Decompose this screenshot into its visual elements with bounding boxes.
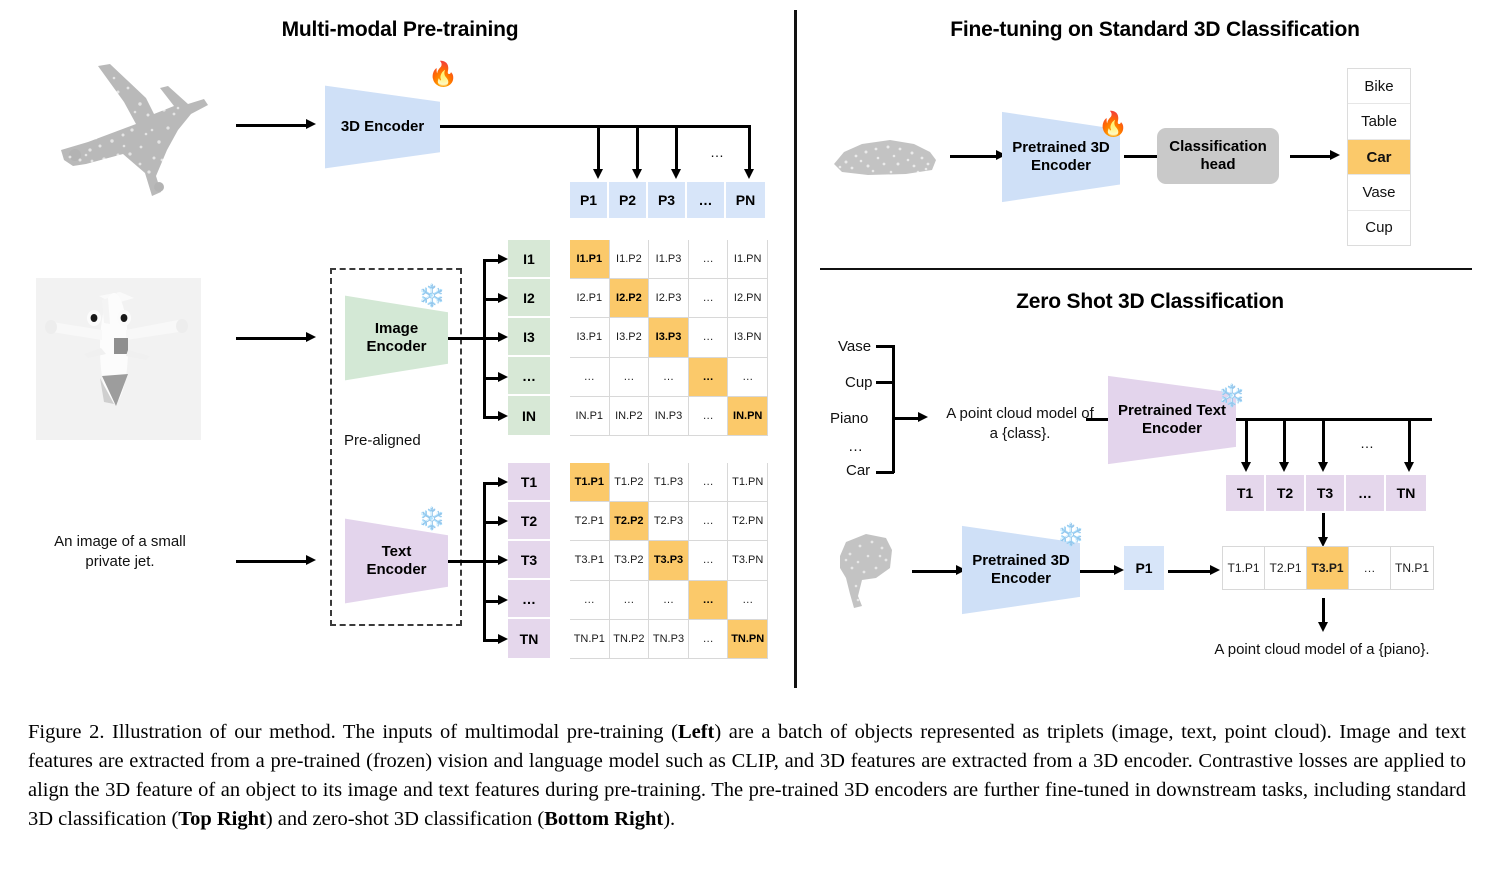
- p-token[interactable]: P2: [609, 182, 648, 218]
- p-token[interactable]: P1: [570, 182, 609, 218]
- arrowhead: [1318, 462, 1328, 472]
- p-branch-ellipsis: …: [700, 143, 734, 161]
- arrow-image-to-encoder: [236, 337, 308, 340]
- t-token[interactable]: TN: [1386, 475, 1426, 511]
- classification-head[interactable]: Classification head: [1157, 128, 1279, 184]
- private-jet-render: [36, 278, 201, 440]
- image-matrix-cell[interactable]: …: [689, 279, 729, 318]
- class-item[interactable]: Cup: [1348, 211, 1410, 245]
- image-matrix-cell[interactable]: IN.P3: [649, 397, 689, 436]
- caption-part-3: ) and zero-shot 3D classification (: [266, 808, 544, 830]
- text-matrix-cell[interactable]: T2.PN: [728, 502, 768, 541]
- bus-text-encoder: [448, 560, 485, 563]
- car-point-cloud: [828, 128, 940, 190]
- arrowhead: [632, 169, 642, 179]
- t-token[interactable]: T3: [1306, 475, 1346, 511]
- panel-title-topright: Fine-tuning on Standard 3D Classificatio…: [855, 18, 1455, 42]
- image-matrix-cell[interactable]: I1.P2: [610, 240, 650, 279]
- p1-token-zeroshot[interactable]: P1: [1124, 546, 1166, 590]
- candidate-class[interactable]: Vase: [838, 338, 871, 355]
- vertical-divider: [794, 10, 797, 688]
- text-token[interactable]: T1: [508, 463, 550, 502]
- text-token-column: T1 T2 T3 … TN: [508, 463, 550, 659]
- text-matrix-cell-positive[interactable]: T1.P1: [570, 463, 610, 502]
- class-bracket-tick: [876, 471, 894, 474]
- class-bracket-tick: [876, 381, 894, 384]
- arrowhead: [593, 169, 603, 179]
- class-item[interactable]: Table: [1348, 104, 1410, 139]
- arrowhead: [1318, 622, 1328, 632]
- similarity-cell[interactable]: …: [1349, 547, 1391, 589]
- arrowhead: [498, 254, 508, 264]
- arrowhead: [306, 555, 316, 565]
- arrowhead: [1114, 565, 1124, 575]
- class-bracket-tick: [876, 345, 894, 348]
- panel-title-left: Multi-modal Pre-training: [180, 18, 620, 42]
- candidate-class[interactable]: Cup: [845, 374, 873, 391]
- arrowhead: [498, 332, 508, 342]
- text-token[interactable]: T3: [508, 541, 550, 580]
- branch-p2: [636, 125, 639, 173]
- arrowhead: [498, 372, 508, 382]
- text-matrix-cell-positive[interactable]: TN.PN: [728, 620, 768, 659]
- image-matrix-cell-positive[interactable]: I3.P3: [649, 318, 689, 357]
- candidate-class-ellipsis: …: [848, 438, 863, 455]
- branch-t1: [1245, 418, 1248, 466]
- caption-bold-left: Left: [678, 721, 714, 743]
- snowflake-icon: ❄️: [1057, 524, 1084, 546]
- p-token[interactable]: P3: [648, 182, 687, 218]
- bus-image-encoder: [448, 337, 485, 340]
- text-similarity-matrix: T1.P1T1.P2T1.P3…T1.PNT2.P1T2.P2T2.P3…T2.…: [570, 463, 768, 659]
- text-matrix-cell[interactable]: …: [689, 620, 729, 659]
- text-token[interactable]: T2: [508, 502, 550, 541]
- image-matrix-cell-positive[interactable]: I2.P2: [610, 279, 650, 318]
- similarity-cell-best[interactable]: T3.P1: [1307, 547, 1349, 589]
- image-matrix-cell-positive[interactable]: …: [689, 358, 729, 397]
- arrowhead: [306, 119, 316, 129]
- branch-t3: [1322, 418, 1325, 466]
- encoder-3d-label: 3D Encoder: [341, 118, 424, 136]
- arrowhead: [498, 595, 508, 605]
- text-matrix-cell[interactable]: TN.P1: [570, 620, 610, 659]
- class-item-selected[interactable]: Car: [1348, 140, 1410, 175]
- t-token[interactable]: T1: [1226, 475, 1266, 511]
- text-matrix-cell[interactable]: T2.P3: [649, 502, 689, 541]
- caption-part-4: ).: [663, 808, 675, 830]
- text-matrix-cell[interactable]: TN.P2: [610, 620, 650, 659]
- text-matrix-cell[interactable]: …: [689, 541, 729, 580]
- image-matrix-cell[interactable]: I3.P2: [610, 318, 650, 357]
- fire-icon: 🔥: [428, 63, 458, 87]
- branch-p3: [675, 125, 678, 173]
- encoder-text-label: Text Encoder: [366, 543, 426, 578]
- image-matrix-cell[interactable]: I2.P1: [570, 279, 610, 318]
- p-token-row: P1 P2 P3 … PN: [570, 182, 765, 218]
- image-matrix-cell[interactable]: I3.P1: [570, 318, 610, 357]
- image-token[interactable]: I2: [508, 279, 550, 318]
- p-token[interactable]: …: [687, 182, 726, 218]
- arrowhead: [498, 634, 508, 644]
- image-matrix-cell[interactable]: …: [689, 397, 729, 436]
- image-matrix-cell[interactable]: …: [649, 358, 689, 397]
- image-matrix-cell-positive[interactable]: I1.P1: [570, 240, 610, 279]
- text-matrix-cell[interactable]: T3.P2: [610, 541, 650, 580]
- piano-point-cloud: [828, 524, 908, 614]
- arrow-encoder-to-p1: [1080, 570, 1116, 573]
- image-similarity-matrix: I1.P1I1.P2I1.P3…I1.PNI2.P1I2.P2I2.P3…I2.…: [570, 240, 768, 436]
- text-matrix-cell[interactable]: T1.P2: [610, 463, 650, 502]
- horizontal-divider: [820, 268, 1472, 270]
- figure-canvas: Multi-modal Pre-training 3D Encoder: [0, 0, 1490, 705]
- image-token[interactable]: IN: [508, 396, 550, 435]
- panel-title-bottomright: Zero Shot 3D Classification: [940, 290, 1360, 314]
- image-matrix-cell[interactable]: …: [689, 318, 729, 357]
- similarity-cell[interactable]: T1.P1: [1223, 547, 1265, 589]
- branch-pn: [748, 125, 751, 173]
- image-matrix-cell[interactable]: …: [610, 358, 650, 397]
- arrow-head-to-classes: [1290, 155, 1332, 158]
- arrowhead: [671, 169, 681, 179]
- similarity-cell[interactable]: TN.P1: [1391, 547, 1433, 589]
- text-matrix-cell[interactable]: T3.P1: [570, 541, 610, 580]
- text-input-caption: An image of a small private jet.: [22, 532, 218, 571]
- prompt-template: A point cloud model of a {class}.: [930, 404, 1110, 443]
- pretrained-text-encoder[interactable]: Pretrained Text Encoder: [1108, 372, 1236, 468]
- branch-tn: [1408, 418, 1411, 466]
- text-matrix-cell[interactable]: …: [689, 463, 729, 502]
- class-item[interactable]: Bike: [1348, 69, 1410, 104]
- pretrained-3d-encoder-label: Pretrained 3D Encoder: [1012, 139, 1110, 174]
- image-token[interactable]: …: [508, 357, 550, 396]
- arrowhead: [498, 516, 508, 526]
- p-token[interactable]: PN: [726, 182, 765, 218]
- bus-3dencoder: [440, 125, 750, 128]
- text-matrix-cell[interactable]: …: [610, 581, 650, 620]
- encoder-image-label: Image Encoder: [366, 320, 426, 355]
- caption-part-1: Figure 2. Illustration of our method. Th…: [28, 721, 678, 743]
- image-matrix-cell-positive[interactable]: IN.PN: [728, 397, 768, 436]
- arrowhead: [1279, 462, 1289, 472]
- t-token[interactable]: …: [1346, 475, 1386, 511]
- arrowhead: [498, 411, 508, 421]
- arrowhead: [918, 412, 928, 422]
- figure-caption: Figure 2. Illustration of our method. Th…: [28, 718, 1466, 834]
- arrowhead: [306, 332, 316, 342]
- branch-t2: [1283, 418, 1286, 466]
- image-matrix-cell[interactable]: …: [570, 358, 610, 397]
- arrowhead: [744, 169, 754, 179]
- image-matrix-cell[interactable]: …: [728, 358, 768, 397]
- t-token[interactable]: T2: [1266, 475, 1306, 511]
- image-token-column: I1 I2 I3 … IN: [508, 240, 550, 436]
- text-token[interactable]: …: [508, 580, 550, 619]
- text-matrix-cell[interactable]: T2.P1: [570, 502, 610, 541]
- text-matrix-cell[interactable]: T1.P3: [649, 463, 689, 502]
- arrowhead: [1210, 565, 1220, 575]
- airplane-point-cloud: [28, 42, 228, 217]
- image-matrix-cell[interactable]: I1.PN: [728, 240, 768, 279]
- encoder-3d[interactable]: 3D Encoder: [325, 82, 440, 172]
- image-matrix-cell[interactable]: I1.P3: [649, 240, 689, 279]
- arrowhead: [1404, 462, 1414, 472]
- candidate-class[interactable]: Car: [846, 462, 870, 479]
- candidate-class[interactable]: Piano: [830, 410, 868, 427]
- text-matrix-cell-positive[interactable]: T3.P3: [649, 541, 689, 580]
- bus-text-encoder-zeroshot: [1236, 418, 1432, 421]
- image-matrix-cell[interactable]: IN.P2: [610, 397, 650, 436]
- image-matrix-cell[interactable]: I3.PN: [728, 318, 768, 357]
- t-branch-ellipsis: …: [1352, 434, 1382, 452]
- text-matrix-cell[interactable]: TN.P3: [649, 620, 689, 659]
- text-token[interactable]: TN: [508, 619, 550, 658]
- caption-bold-topright: Top Right: [178, 808, 266, 830]
- text-matrix-cell-positive[interactable]: …: [689, 581, 729, 620]
- zeroshot-result-text: A point cloud model of a {piano}.: [1182, 640, 1462, 660]
- snowflake-icon: ❄️: [418, 285, 445, 307]
- snowflake-icon: ❄️: [418, 508, 445, 530]
- image-matrix-cell[interactable]: I2.PN: [728, 279, 768, 318]
- caption-bold-bottomright: Bottom Right: [544, 808, 663, 830]
- arrow-car-to-encoder: [950, 155, 998, 158]
- text-matrix-cell[interactable]: T1.PN: [728, 463, 768, 502]
- text-matrix-cell[interactable]: …: [570, 581, 610, 620]
- pretrained-3d-encoder-label: Pretrained 3D Encoder: [972, 552, 1070, 587]
- arrowhead: [498, 477, 508, 487]
- arrowhead: [498, 293, 508, 303]
- class-item[interactable]: Vase: [1348, 175, 1410, 210]
- class-bracket-vertical: [892, 345, 895, 473]
- fire-icon: 🔥: [1098, 113, 1128, 137]
- branch-p1: [597, 125, 600, 173]
- arrow-pointcloud-to-3dencoder: [236, 124, 308, 127]
- arrow-bracket-to-prompt: [892, 417, 920, 420]
- arrow-p1-to-similarity: [1168, 570, 1212, 573]
- arrow-piano-to-encoder: [912, 570, 958, 573]
- pretrained-text-encoder-label: Pretrained Text Encoder: [1118, 402, 1226, 437]
- t-token-row-zeroshot: T1 T2 T3 … TN: [1226, 475, 1426, 511]
- text-matrix-cell[interactable]: …: [649, 581, 689, 620]
- pre-aligned-label: Pre-aligned: [344, 432, 421, 449]
- image-token[interactable]: I3: [508, 318, 550, 357]
- text-matrix-cell[interactable]: T3.PN: [728, 541, 768, 580]
- similarity-cell[interactable]: T2.P1: [1265, 547, 1307, 589]
- arrowhead: [1330, 150, 1340, 160]
- text-matrix-cell[interactable]: …: [728, 581, 768, 620]
- similarity-strip-zeroshot: T1.P1 T2.P1 T3.P1 … TN.P1: [1222, 546, 1434, 590]
- text-matrix-cell-positive[interactable]: T2.P2: [610, 502, 650, 541]
- image-matrix-cell[interactable]: I2.P3: [649, 279, 689, 318]
- arrowhead: [1241, 462, 1251, 472]
- image-token[interactable]: I1: [508, 240, 550, 279]
- arrow-text-to-encoder: [236, 560, 308, 563]
- image-matrix-cell[interactable]: IN.P1: [570, 397, 610, 436]
- arrowhead: [498, 555, 508, 565]
- text-matrix-cell[interactable]: …: [689, 502, 729, 541]
- image-matrix-cell[interactable]: …: [689, 240, 729, 279]
- class-list-topright: Bike Table Car Vase Cup: [1347, 68, 1411, 246]
